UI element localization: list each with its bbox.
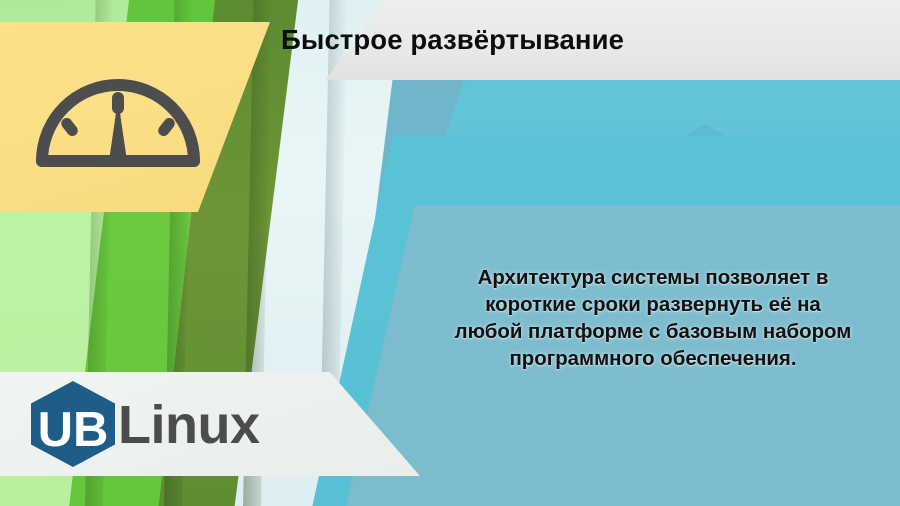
- ublinux-logo: UB Linux: [28, 379, 260, 469]
- ub-mark-text: UB: [38, 403, 109, 457]
- slide-title: Быстрое развёртывание: [100, 0, 805, 80]
- presentation-slide: UB Быстрое развёртывание Архитектура сис…: [0, 0, 900, 506]
- logo-wordmark: Linux: [118, 398, 260, 452]
- ub-hexagon-icon: UB: [28, 379, 118, 469]
- slide-body-text: Архитектура системы позволяет в короткие…: [420, 265, 886, 374]
